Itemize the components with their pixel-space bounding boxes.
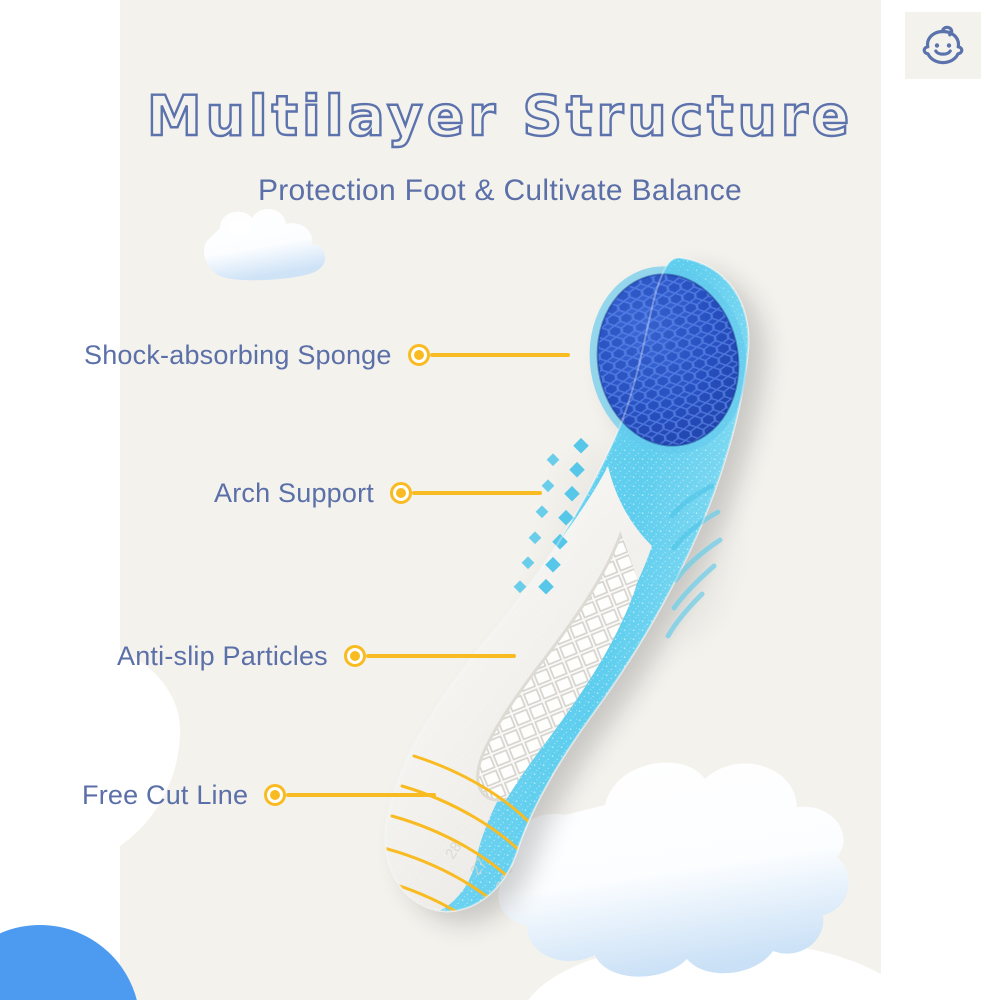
page-title: Multilayer Structure xyxy=(0,84,1000,148)
callout-free-cut-line[interactable]: Free Cut Line xyxy=(82,775,436,815)
page-subtitle: Protection Foot & Cultivate Balance xyxy=(0,174,1000,208)
callout-marker-icon[interactable] xyxy=(408,344,430,366)
right-white-margin xyxy=(881,0,1000,1000)
callout-marker-icon[interactable] xyxy=(390,482,412,504)
insole-white-forefoot xyxy=(340,450,860,950)
baby-badge xyxy=(905,12,981,79)
callout-leader-line xyxy=(430,353,570,357)
callout-leader-line xyxy=(366,654,516,658)
callout-anti-slip-particles[interactable]: Anti-slip Particles xyxy=(117,636,516,676)
callout-shock-absorbing-sponge[interactable]: Shock-absorbing Sponge xyxy=(84,335,570,375)
callout-label: Anti-slip Particles xyxy=(117,641,328,672)
callout-label: Arch Support xyxy=(214,478,374,509)
callout-leader-line xyxy=(286,793,436,797)
callout-marker-icon[interactable] xyxy=(344,645,366,667)
callout-marker-icon[interactable] xyxy=(264,784,286,806)
svg-text:25: 25 xyxy=(518,888,541,911)
svg-text:24: 24 xyxy=(543,904,566,927)
baby-face-icon xyxy=(920,25,966,67)
callout-leader-line xyxy=(412,491,542,495)
callout-label: Shock-absorbing Sponge xyxy=(84,340,392,371)
infographic-canvas: Multilayer Structure Protection Foot & C… xyxy=(0,0,1000,1000)
callout-label: Free Cut Line xyxy=(82,780,248,811)
callout-arch-support[interactable]: Arch Support xyxy=(214,473,542,513)
